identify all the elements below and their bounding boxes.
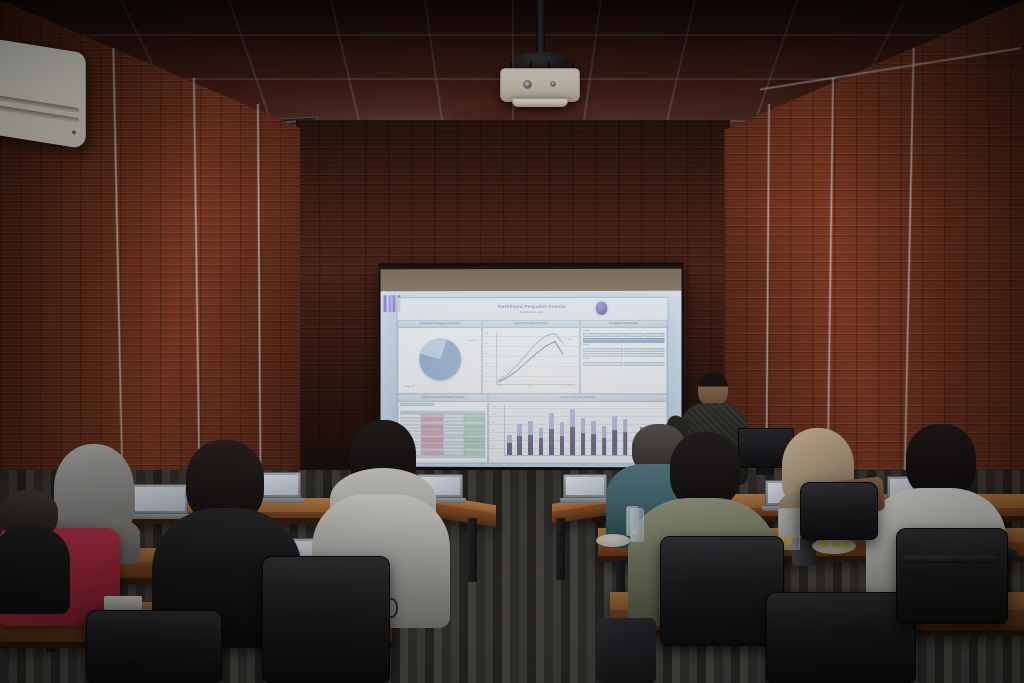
line-legend-2020: 2020 [503,370,508,373]
dashboard-filters: Tanggal Region [581,328,667,393]
attendee-head [670,432,740,508]
pie-legend-label-2: Region B [467,340,476,343]
bar-group [539,428,544,456]
panel-settings: Pengaturan Dashboard Tanggal Region [580,320,668,394]
paper-stack[interactable] [104,596,142,610]
line-xtick-7: Ags [567,385,570,388]
pie-slices [419,338,461,380]
desk-leg [556,518,565,580]
line-xtick-0: Jan [497,385,500,387]
laptop-back-right[interactable] [560,474,610,504]
attendee-body [0,528,70,614]
backpack-floor-left [600,624,626,682]
projector-foot [512,98,568,107]
chair-front-center[interactable] [86,610,222,683]
chair-front-right[interactable] [766,592,916,683]
filter-row-produk[interactable] [583,362,665,366]
training-room-scene: Dashboard Penjualan Sepeda Periode 2020 … [0,0,1024,683]
bar-group [517,424,522,455]
ac-led-icon [72,130,76,135]
attendee-far-left [0,490,70,610]
line-legend-2021: 2021 [568,339,573,342]
bar-group [528,421,533,455]
pie-legend-label-1: Region A [405,386,414,389]
presenter-head [698,372,728,406]
bar-group [570,409,575,455]
dashboard-subtitle: Periode 2020 - 2021 [520,311,544,314]
chair-armrest [902,556,998,563]
snack-plate-left [596,534,630,547]
desk-leg [468,518,477,582]
panel-line-title: Jumlah Penjualan per Bulan [483,321,578,328]
line-chart: 100 80 60 40 20 0 2021 2020 [483,328,578,393]
filter-section-label-0: Tanggal [583,329,665,332]
projector-lens-icon [523,80,532,89]
screen-masking-band [381,269,682,292]
bar-group [581,418,586,456]
filter-row-region-2[interactable] [583,353,665,357]
snack-item [820,540,829,547]
line-series-group [496,332,578,384]
line-xtick-3: Apr [527,385,530,388]
snack-item [843,540,851,547]
filter-row-region[interactable] [583,348,665,352]
bar-group [549,413,554,456]
dashboard-header: Dashboard Penjualan Sepeda Periode 2020 … [397,298,667,320]
filter-row-header[interactable] [583,333,665,337]
chair-right-edge[interactable] [896,528,1008,624]
report-seal-icon [596,302,607,315]
chair-front-left[interactable] [262,556,390,683]
filter-section-label-2: Produk [583,358,665,361]
filter-selected-highlight[interactable] [583,338,665,343]
snack-item [832,541,841,548]
line-series-2020 [498,342,564,383]
bar-group [507,435,512,455]
chair-tan-hijab[interactable] [800,482,878,540]
dashboard-title: Dashboard Penjualan Sepeda [498,304,566,310]
line-series-2021 [498,334,564,381]
bar-group [560,422,565,455]
water-bottle-right[interactable] [626,506,639,536]
projector-body [500,68,580,102]
panel-line: Jumlah Penjualan per Bulan 100 80 60 [482,320,579,394]
panel-pie: Komposisi Penjualan per Region Region A … [397,320,482,394]
air-conditioner [0,39,86,150]
attendee-head [906,424,976,498]
bar-group [591,421,596,456]
panel-table-title: Grafik Kuantitas Penjualan Sepeda [398,395,487,402]
pie-chart: Region A Region B [398,328,481,393]
projector-sensor-icon [550,81,556,87]
panel-pie-title: Komposisi Penjualan per Region [398,321,481,328]
filter-section-label-1: Region [583,344,665,347]
table-search-box[interactable] [400,403,434,406]
